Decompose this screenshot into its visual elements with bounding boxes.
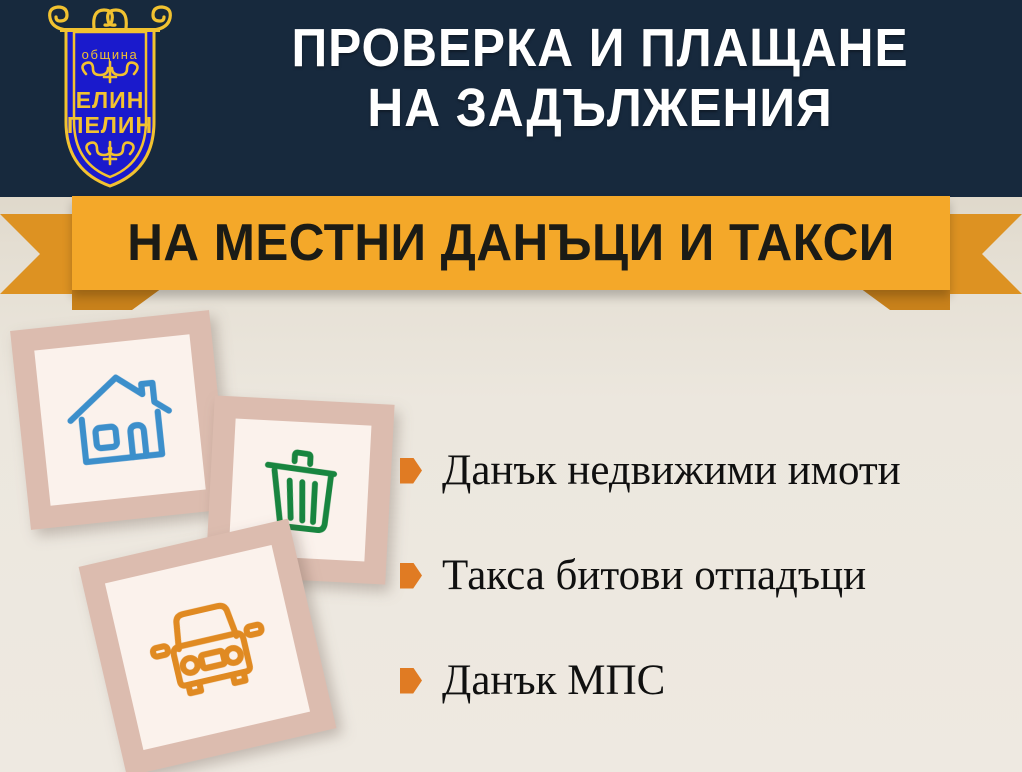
ribbon-fold-right [860,288,950,310]
list-item[interactable]: Данък недвижими имоти [400,418,1000,523]
bullet-arrow-icon [400,563,422,589]
header-bar: община ЕЛИН ПЕЛИН [0,0,1022,197]
car-front-icon [134,574,282,722]
subtitle-ribbon: НА МЕСТНИ ДАНЪЦИ И ТАКСИ [0,196,1022,311]
list-item[interactable]: Такса битови отпадъци [400,523,1000,628]
list-item-label: Такса битови отпадъци [442,554,866,597]
municipality-crest-logo: община ЕЛИН ПЕЛИН [36,2,184,192]
ribbon-banner: НА МЕСТНИ ДАНЪЦИ И ТАКСИ [72,196,950,290]
page-title-line-1: ПРОВЕРКА И ПЛАЩАНЕ [223,18,977,78]
page-title: ПРОВЕРКА И ПЛАЩАНЕ НА ЗАДЪЛЖЕНИЯ [223,18,977,139]
crest-line-2: ПЕЛИН [67,112,153,138]
list-item-label: Данък МПС [442,659,665,702]
ribbon-fold-left [72,288,162,310]
ribbon-label: НА МЕСТНИ ДАНЪЦИ И ТАКСИ [127,213,895,273]
stamp-collage [0,300,420,760]
stamp-house [10,310,230,530]
bullet-arrow-icon [400,668,422,694]
crest-svg: община ЕЛИН ПЕЛИН [36,2,184,192]
poster-root: община ЕЛИН ПЕЛИН [0,0,1022,772]
tax-type-list: Данък недвижими имоти Такса битови отпад… [400,418,1000,733]
page-title-line-2: НА ЗАДЪЛЖЕНИЯ [223,78,977,138]
house-icon [58,358,181,481]
crest-subtitle: община [82,47,139,62]
crest-line-1: ЕЛИН [76,87,145,113]
list-item[interactable]: Данък МПС [400,628,1000,733]
list-item-label: Данък недвижими имоти [442,449,901,492]
bullet-arrow-icon [400,458,422,484]
stamp-house-paper [34,334,205,505]
